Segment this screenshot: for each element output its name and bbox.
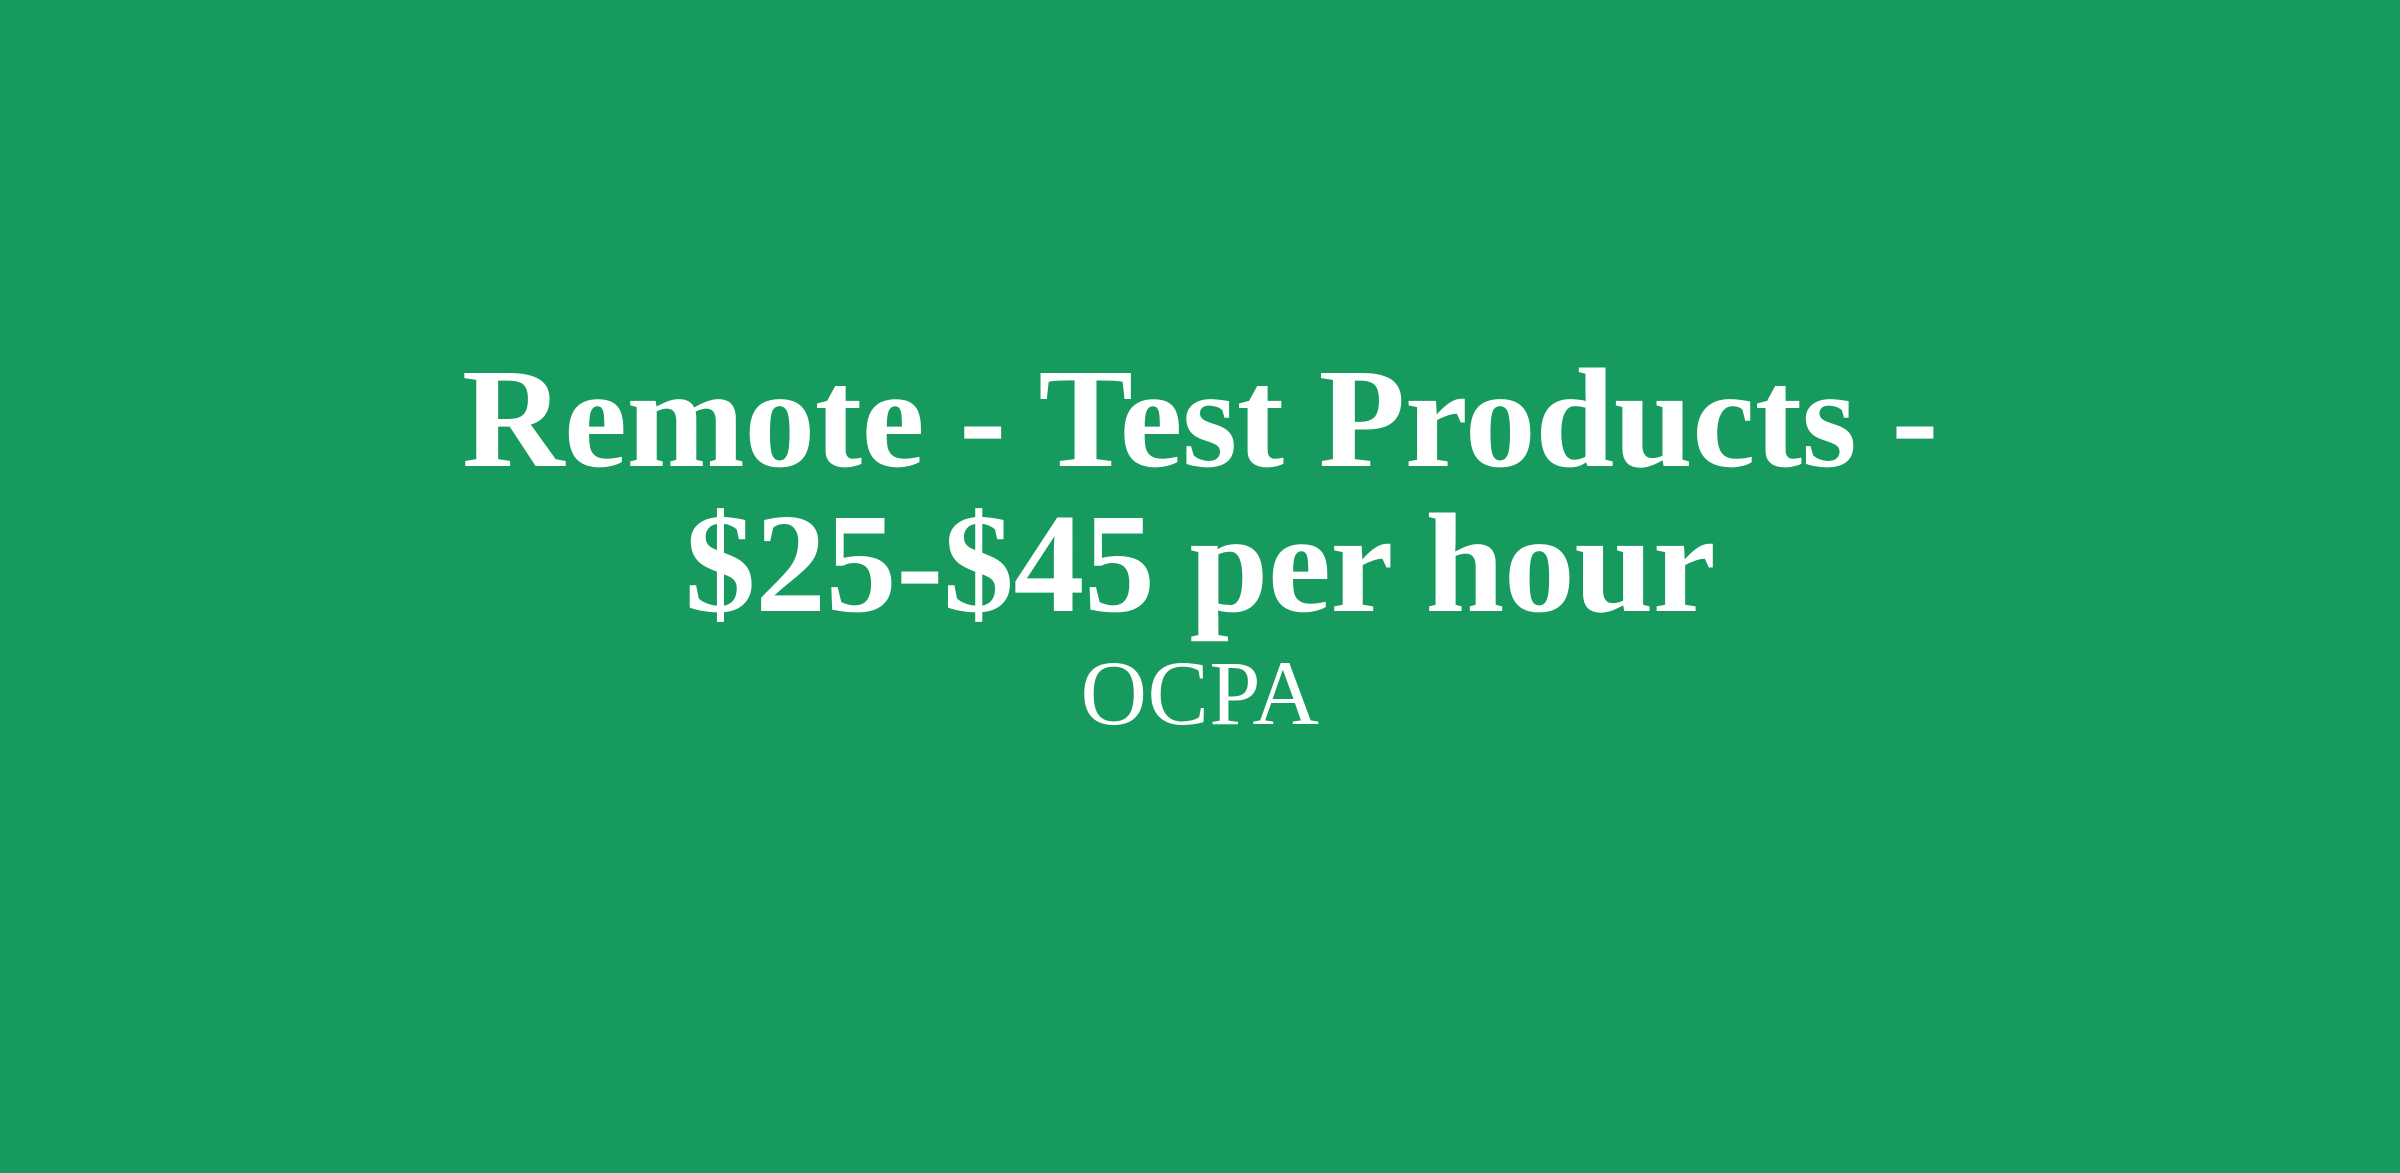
subtitle: OCPA xyxy=(1081,644,1320,742)
page-title: Remote - Test Products - $25-$45 per hou… xyxy=(420,346,1980,636)
card-text-block: Remote - Test Products - $25-$45 per hou… xyxy=(420,346,1980,742)
promo-card: Remote - Test Products - $25-$45 per hou… xyxy=(0,0,2400,1173)
